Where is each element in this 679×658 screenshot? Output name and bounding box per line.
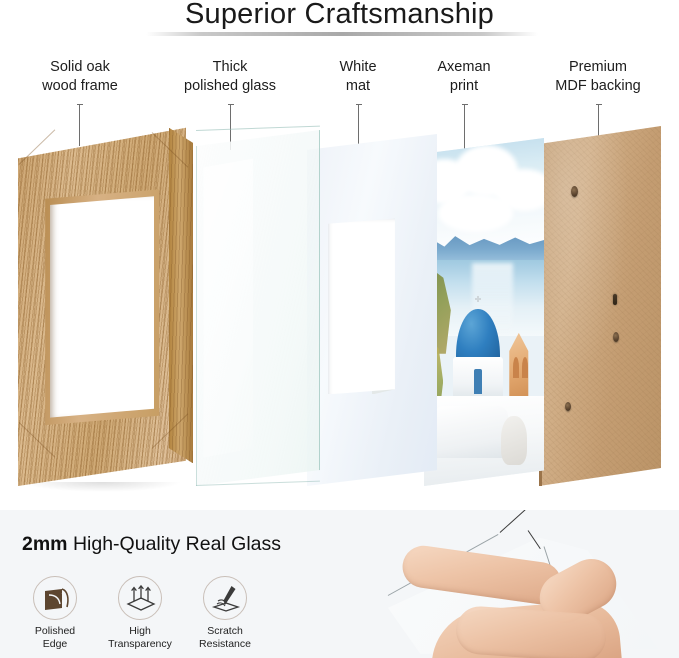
photo-church-door [474,369,481,393]
polished-edge-icon [33,576,77,620]
callout-label-line2: mat [308,77,408,96]
feature-label-line1: Polished [35,625,75,637]
callout-label-line2: polished glass [160,77,300,96]
callout-label-line1: Axeman [410,58,518,77]
mdf-board-face [539,126,661,486]
feature-label: Polished Edge [10,625,100,651]
oak-frame-shadow [22,482,182,492]
feature-heading-thickness: 2mm [22,533,68,555]
feature-label-line1: Scratch [207,625,243,637]
callout-label-line1: Premium [528,58,668,77]
exploded-view-stage [0,108,679,500]
feature-scratch-resistance: Scratch Resistance [180,576,270,651]
feature-label-line2: Transparency [108,638,172,650]
feature-panel-heading: 2mm High-Quality Real Glass [22,533,281,556]
glass-corner-edge [500,510,526,533]
photo-bell-arch [513,357,519,378]
feature-label: High Transparency [95,625,185,651]
oak-frame-opening [50,196,154,417]
white-mat-layer [307,134,437,486]
glass-feature-panel: 2mm High-Quality Real Glass Polished Edg… [0,510,679,658]
photo-white-wall [434,406,508,458]
feature-label-line2: Resistance [199,638,251,650]
callout-white-mat: White mat [308,58,408,96]
feature-polished-edge: Polished Edge [10,576,100,651]
callout-thick-polished-glass: Thick polished glass [160,58,300,96]
callout-label-line1: White [308,58,408,77]
photo-print-layer [424,138,544,486]
scratch-resistance-icon [203,576,247,620]
hanging-hardware-hole-2 [613,332,619,342]
callout-label-line2: MDF backing [528,77,668,96]
oak-frame-layer [10,126,210,486]
callout-label-line1: Solid oak [10,58,150,77]
callout-label-line2: wood frame [10,77,150,96]
feature-label-line1: High [129,625,151,637]
hanging-hardware-slot [613,294,617,305]
feature-high-transparency: High Transparency [95,576,185,651]
hand-holding-glass-photo [370,510,679,658]
mdf-backing-layer [539,126,661,486]
callout-label-line2: print [410,77,518,96]
santorini-photo [424,138,544,486]
page-title: Superior Craftsmanship [0,0,679,31]
glass-sheet-layer [196,130,320,486]
mat-window-cutout [328,218,396,394]
callout-label-line1: Thick [160,58,300,77]
callout-axeman-print: Axeman print [410,58,518,96]
oak-frame-side-edge [169,128,193,464]
photo-rock [501,416,527,465]
title-underline-divider [146,32,538,36]
callout-premium-mdf-backing: Premium MDF backing [528,58,668,96]
high-transparency-icon [118,576,162,620]
title-block: Superior Craftsmanship [0,0,679,46]
callout-solid-oak-wood-frame: Solid oak wood frame [10,58,150,96]
feature-label: Scratch Resistance [180,625,270,651]
photo-cloud [438,194,512,232]
hanging-hardware-hole-1 [571,186,578,197]
glass-edge-top [196,126,320,131]
hanging-hardware-hole-3 [565,402,571,411]
glass-reflection [203,158,253,457]
middle-finger [455,605,608,658]
feature-heading-text: High-Quality Real Glass [73,533,281,555]
photo-church-cross [477,296,478,302]
feature-label-line2: Edge [43,638,68,650]
